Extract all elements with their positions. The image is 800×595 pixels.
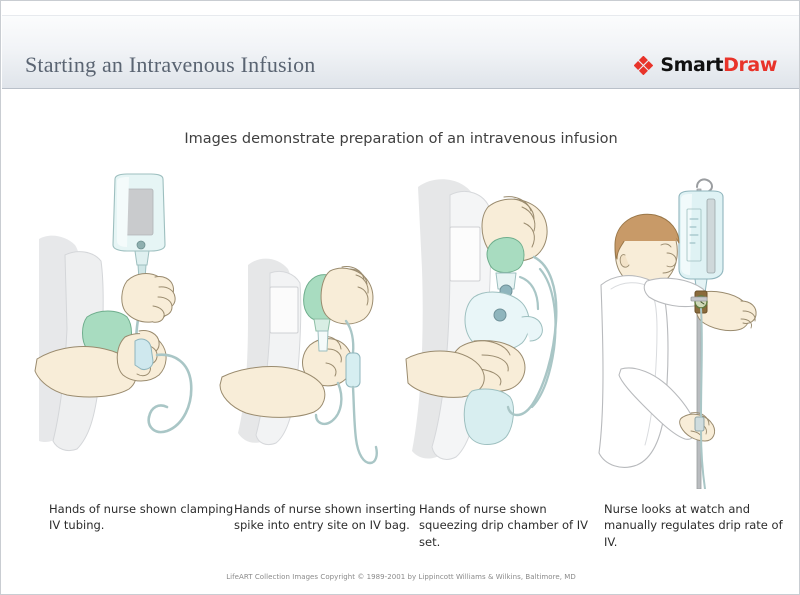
logo-text-draw: Draw [723, 54, 777, 76]
gown-pocket [450, 227, 480, 281]
gown-pocket [270, 287, 298, 333]
spike-connector [318, 331, 328, 351]
smartdraw-logo[interactable]: SmartDraw [634, 56, 777, 75]
page-title: Starting an Intravenous Infusion [25, 52, 316, 78]
caption-row: Hands of nurse shown clamping IV tubing.… [49, 501, 789, 561]
illustration-row [31, 169, 771, 489]
fluid-bag [465, 389, 514, 445]
forearm [220, 366, 325, 417]
caption-panel-3: Hands of nurse shown squeezing drip cham… [419, 501, 604, 561]
diamond-cluster-icon [634, 56, 653, 75]
iv-tubing [353, 387, 370, 463]
green-drip-chamber [487, 238, 524, 273]
page-header: Starting an Intravenous Infusion SmartDr… [2, 15, 799, 89]
illustration-squeezing-drip-chamber [404, 169, 584, 489]
copyright-footer: LifeART Collection Images Copyright © 19… [1, 573, 800, 581]
illustration-inserting-spike [218, 169, 398, 489]
slide-page: Starting an Intravenous Infusion SmartDr… [0, 0, 800, 595]
drip-chamber [346, 353, 360, 387]
illustration-clamping-iv-tubing [31, 169, 211, 489]
caption-panel-4: Nurse looks at watch and manually regula… [604, 501, 789, 561]
upper-hand [321, 268, 373, 324]
iv-bag-label [125, 189, 153, 235]
iv-tubing [701, 309, 705, 489]
slide-subtitle: Images demonstrate preparation of an int… [1, 131, 800, 147]
right-hand [741, 301, 756, 324]
caption-panel-2: Hands of nurse shown inserting spike int… [234, 501, 419, 561]
iv-bag-port [137, 241, 145, 249]
caption-panel-1: Hands of nurse shown clamping IV tubing. [49, 501, 234, 561]
logo-text-smart: Smart [660, 54, 723, 76]
logo-wordmark: SmartDraw [660, 56, 777, 75]
illustration-regulating-drip-rate [591, 169, 771, 489]
bag-tube-column [707, 199, 715, 273]
pole-collar [691, 297, 707, 301]
roller-clamp [695, 417, 704, 431]
